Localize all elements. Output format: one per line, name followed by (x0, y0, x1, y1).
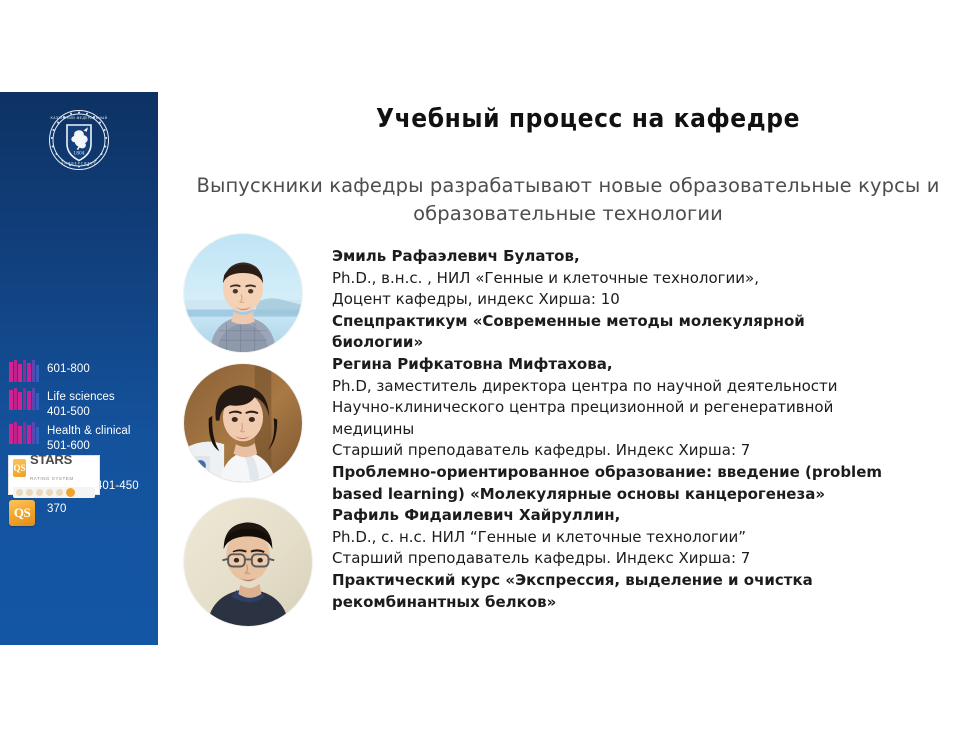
qs-stars-badge: QS STARS RATING SYSTEM (8, 455, 100, 495)
star-dot (56, 489, 63, 496)
person-line: Регина Рифкатовна Мифтахова, (332, 354, 952, 376)
kfu-emblem-logo: 1804 КАЗАНСКИЙ ФЕДЕРАЛЬНЫЙ УНИВЕРСИТЕТ (47, 108, 111, 172)
qs-stars-word: STARS (30, 452, 72, 467)
ranking-line: Life sciences (47, 390, 115, 405)
page-title: Учебный процесс на кафедре (196, 104, 980, 134)
star-dot (46, 489, 53, 496)
ranking-row-the-overall: 601-800 (0, 360, 158, 386)
person-line: based learning) «Молекулярные основы кан… (332, 484, 952, 506)
ranking-text: Life sciences 401-500 (47, 388, 115, 420)
ranking-row-the-health-clinical: Health & clinical 501-600 (0, 422, 158, 454)
ranking-text: Health & clinical 501-600 (47, 422, 131, 454)
slide-canvas: 1804 КАЗАНСКИЙ ФЕДЕРАЛЬНЫЙ УНИВЕРСИТЕТ (0, 0, 980, 735)
person-line: Доцент кафедры, индекс Хирша: 10 (332, 289, 952, 311)
svg-text:1804: 1804 (73, 152, 84, 157)
ranking-row-qs-overall: QS 370 (0, 500, 158, 526)
svg-text:КАЗАНСКИЙ ФЕДЕРАЛЬНЫЙ: КАЗАНСКИЙ ФЕДЕРАЛЬНЫЙ (51, 115, 108, 120)
the-rankings-icon (9, 360, 39, 384)
person-line: Старший преподаватель кафедры. Индекс Хи… (332, 548, 952, 570)
person-line: медицины (332, 419, 952, 441)
star-dot-highlight (66, 488, 75, 497)
person-line: Эмиль Рафаэлевич Булатов, (332, 246, 952, 268)
ranking-line: 401-500 (47, 405, 115, 420)
qs-stars-mark: QS (13, 459, 26, 477)
qs-mark: QS (9, 500, 35, 526)
ranking-text: 601-800 (47, 360, 90, 377)
ranking-row-the-life-sciences: Life sciences 401-500 (0, 388, 158, 420)
ranking-text: 370 (47, 500, 67, 517)
star-dot (16, 489, 23, 496)
subtitle-line-1: Выпускники кафедры разрабатывают новые о… (196, 174, 851, 197)
qs-stars-subtitle: RATING SYSTEM (30, 476, 74, 481)
person-line: Спецпрактикум «Современные методы молеку… (332, 311, 952, 333)
ranking-line: Health & clinical (47, 424, 131, 439)
person-line: Ph.D., в.н.с. , НИЛ «Генные и клеточные … (332, 268, 952, 290)
portrait-bulatov (184, 234, 302, 352)
ranking-line: 370 (47, 502, 67, 517)
person-line: рекомбинантных белков» (332, 592, 952, 614)
people-description-block: Эмиль Рафаэлевич Булатов, Ph.D., в.н.с. … (332, 246, 952, 613)
qs-stars-rating-row (13, 487, 95, 498)
branding-sidebar: 1804 КАЗАНСКИЙ ФЕДЕРАЛЬНЫЙ УНИВЕРСИТЕТ (0, 92, 158, 645)
qs-rankings-icon: QS (9, 500, 39, 524)
person-line: Практический курс «Экспрессия, выделение… (332, 570, 952, 592)
svg-text:УНИВЕРСИТЕТ: УНИВЕРСИТЕТ (61, 161, 96, 165)
the-rankings-icon (9, 388, 39, 412)
star-dot (26, 489, 33, 496)
person-line: Ph.D, заместитель директора центра по на… (332, 376, 952, 398)
person-line: Старший преподаватель кафедры. Индекс Хи… (332, 440, 952, 462)
the-rankings-icon (9, 422, 39, 446)
person-line: Научно-клинического центра прецизионной … (332, 397, 952, 419)
star-dot (36, 489, 43, 496)
ranking-line: 601-800 (47, 362, 90, 377)
person-line: Ph.D., с. н.с. НИЛ “Генные и клеточные т… (332, 527, 952, 549)
page-subtitle: Выпускники кафедры разрабатывают новые о… (196, 172, 940, 228)
person-line: биологии» (332, 332, 952, 354)
portrait-miftakhova (184, 364, 302, 482)
portrait-khairullin (184, 498, 312, 626)
person-line: Проблемно-ориентированное образование: в… (332, 462, 952, 484)
person-line: Рафиль Фидаилевич Хайруллин, (332, 505, 952, 527)
rankings-list: 601-800 Life scienc (0, 360, 158, 528)
